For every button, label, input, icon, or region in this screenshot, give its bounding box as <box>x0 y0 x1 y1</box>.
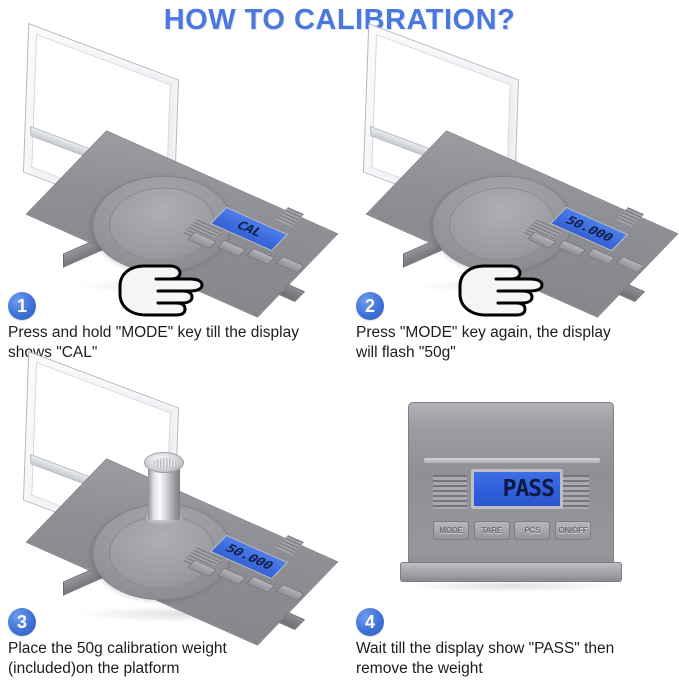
scale-front-shell: PASS MODE TARE PCS ON/OFF <box>408 402 614 578</box>
key-mode[interactable] <box>187 560 216 577</box>
step-badge-2: 2 <box>356 292 384 320</box>
calibration-instructions-page: HOW TO CALIBRATION? <box>0 0 679 700</box>
weight-knurl <box>154 458 176 468</box>
scale-front-base <box>400 562 622 582</box>
step-card-2: 50.000 <box>340 40 679 380</box>
key-mode[interactable] <box>527 232 556 249</box>
key-pcs[interactable] <box>586 248 615 265</box>
key-tare[interactable] <box>217 568 246 585</box>
lcd-value-4: PASS <box>503 478 554 501</box>
key-tare[interactable]: TARE <box>474 521 510 540</box>
pocket-scale-angled-3: 50.000 <box>18 374 318 634</box>
step-4-text: Wait till the display show "PASS" then r… <box>356 639 679 679</box>
scale-lid-seam <box>423 457 601 464</box>
key-mode[interactable]: MODE <box>433 521 469 540</box>
step-1-text: Press and hold "MODE" key till the displ… <box>8 323 338 363</box>
key-pcs[interactable]: PCS <box>514 521 550 540</box>
page-title: HOW TO CALIBRATION? <box>0 4 679 37</box>
key-onoff[interactable]: ON/OFF <box>555 521 591 540</box>
key-pcs[interactable] <box>246 576 275 593</box>
step-2-text: Press "MODE" key again, the display will… <box>356 323 679 363</box>
step-badge-3: 3 <box>8 608 36 636</box>
step-card-4: PASS MODE TARE PCS ON/OFF 4 Wait <box>340 380 679 700</box>
key-tare[interactable] <box>217 240 246 257</box>
step-badge-1: 1 <box>8 292 36 320</box>
step-1-caption: 1 Press and hold "MODE" key till the dis… <box>8 292 338 363</box>
weight-top <box>144 452 184 473</box>
vent-ribs-left-icon <box>433 475 467 509</box>
scale-shadow <box>406 580 616 592</box>
step-card-1: CAL 1 <box>0 40 340 380</box>
step-card-3: 50.000 3 Place the 50g calibration weigh… <box>0 380 340 700</box>
step-badge-4: 4 <box>356 608 384 636</box>
lcd-display-4: PASS <box>471 469 563 509</box>
step-3-caption: 3 Place the 50g calibration weight (incl… <box>8 608 338 679</box>
keypad-4: MODE TARE PCS ON/OFF <box>433 521 591 540</box>
calibration-weight-50g[interactable] <box>144 452 184 528</box>
steps-grid: CAL 1 <box>0 40 679 700</box>
step-2-caption: 2 Press "MODE" key again, the display wi… <box>356 292 679 363</box>
key-tare[interactable] <box>557 240 586 257</box>
step-3-text: Place the 50g calibration weight (includ… <box>8 639 338 679</box>
step-4-caption: 4 Wait till the display show "PASS" then… <box>356 608 679 679</box>
key-mode[interactable] <box>187 232 216 249</box>
pocket-scale-front-view: PASS MODE TARE PCS ON/OFF <box>400 402 622 594</box>
key-pcs[interactable] <box>246 248 275 265</box>
